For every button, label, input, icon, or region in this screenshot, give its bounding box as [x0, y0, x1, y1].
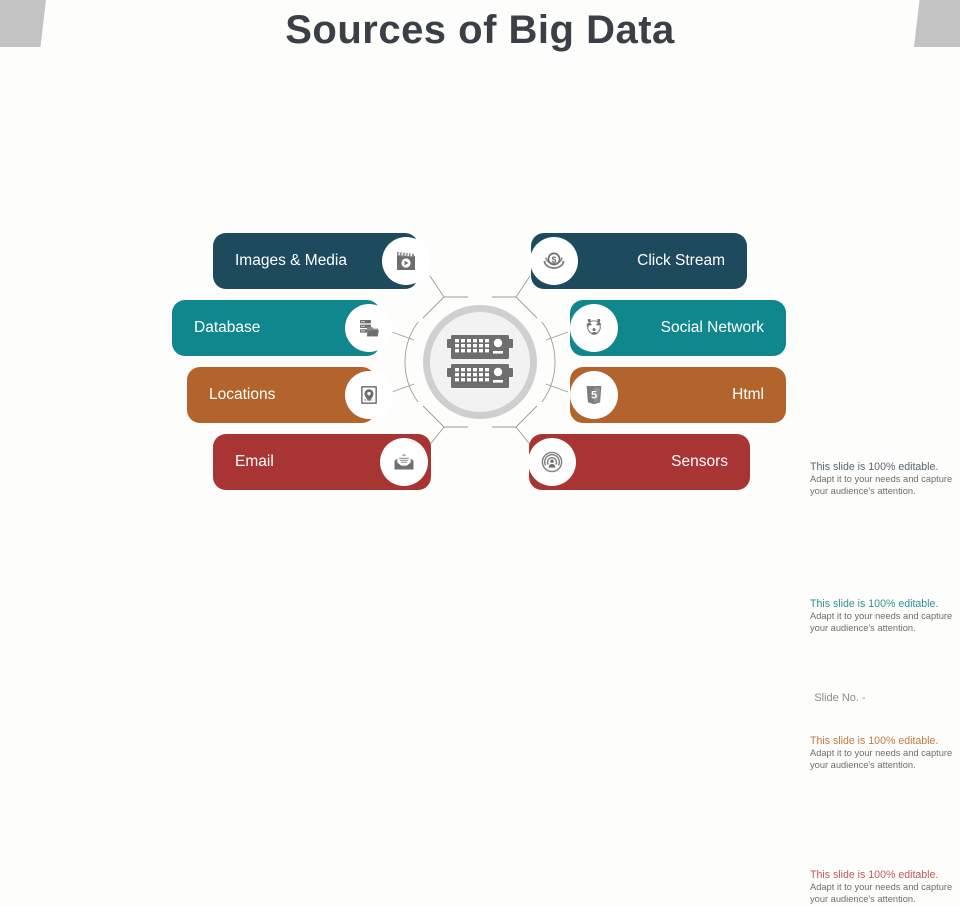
bar-label: Sensors	[671, 453, 728, 471]
server-rack-icon	[447, 333, 513, 391]
bar-label: Html	[732, 386, 764, 404]
people-network-icon[interactable]	[570, 304, 618, 352]
description-lead: This slide is 100% editable.	[810, 461, 938, 473]
description-lead: This slide is 100% editable.	[810, 869, 938, 881]
svg-text:5: 5	[591, 390, 597, 402]
central-hub	[423, 305, 537, 419]
bar-label: Social Network	[661, 319, 764, 337]
envelope-icon[interactable]	[380, 438, 428, 486]
radar-signal-icon[interactable]	[528, 438, 576, 486]
bar-label: Database	[194, 319, 260, 337]
clapperboard-icon[interactable]	[382, 237, 430, 285]
description-body: Adapt it to your needs and capture your …	[810, 748, 952, 770]
description-lead: This slide is 100% editable.	[810, 598, 938, 610]
description-text: This slide is 100% editable. Adapt it to…	[810, 735, 960, 772]
bar-label: Click Stream	[637, 252, 725, 270]
map-pin-icon[interactable]	[345, 371, 393, 419]
database-folder-icon[interactable]	[345, 304, 393, 352]
money-circle-icon[interactable]: $	[530, 237, 578, 285]
description-text: This slide is 100% editable. Adapt it to…	[810, 461, 960, 498]
bar-label: Locations	[209, 386, 275, 404]
description-body: Adapt it to your needs and capture your …	[810, 611, 952, 633]
html5-shield-icon[interactable]: 5	[570, 371, 618, 419]
page-title: Sources of Big Data	[0, 8, 960, 53]
bar-label: Email	[235, 453, 274, 471]
description-body: Adapt it to your needs and capture your …	[810, 474, 952, 496]
description-body: Adapt it to your needs and capture your …	[810, 882, 952, 904]
description-lead: This slide is 100% editable.	[810, 735, 938, 747]
description-text: This slide is 100% editable. Adapt it to…	[810, 869, 960, 906]
description-text: This slide is 100% editable. Adapt it to…	[810, 598, 960, 635]
svg-text:$: $	[552, 255, 557, 265]
slide-number-footer: Slide No. -	[760, 692, 920, 704]
bar-label: Images & Media	[235, 252, 347, 270]
